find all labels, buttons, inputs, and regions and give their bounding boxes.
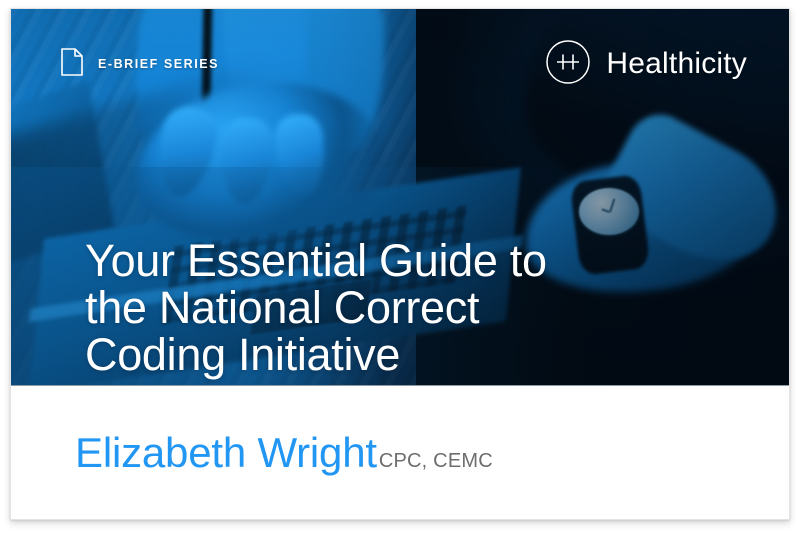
- series-eyebrow: E-BRIEF SERIES: [61, 48, 219, 81]
- series-eyebrow-label: E-BRIEF SERIES: [98, 57, 219, 71]
- ebrief-cover-card: E-BRIEF SERIES Healthicity: [10, 8, 790, 520]
- document-icon: [61, 48, 83, 81]
- brand-name-label: Healthicity: [606, 47, 747, 81]
- hero-image-band: E-BRIEF SERIES Healthicity: [11, 9, 789, 386]
- author-block: Elizabeth Wright CPC, CEMC: [11, 429, 493, 477]
- author-name: Elizabeth Wright: [75, 429, 377, 477]
- brand-logo: Healthicity: [545, 39, 747, 90]
- headline-line-1: Your Essential Guide to: [85, 237, 685, 284]
- author-credentials: CPC, CEMC: [379, 450, 493, 473]
- healthicity-circle-h-icon: [545, 39, 591, 90]
- page-canvas: E-BRIEF SERIES Healthicity: [0, 0, 800, 533]
- author-strip: Elizabeth Wright CPC, CEMC: [11, 386, 789, 520]
- headline-line-3: Coding Initiative: [85, 331, 685, 378]
- headline-line-2: the National Correct: [85, 284, 685, 331]
- hero-top-bar: E-BRIEF SERIES Healthicity: [11, 9, 789, 119]
- cover-headline: Your Essential Guide to the National Cor…: [85, 237, 685, 378]
